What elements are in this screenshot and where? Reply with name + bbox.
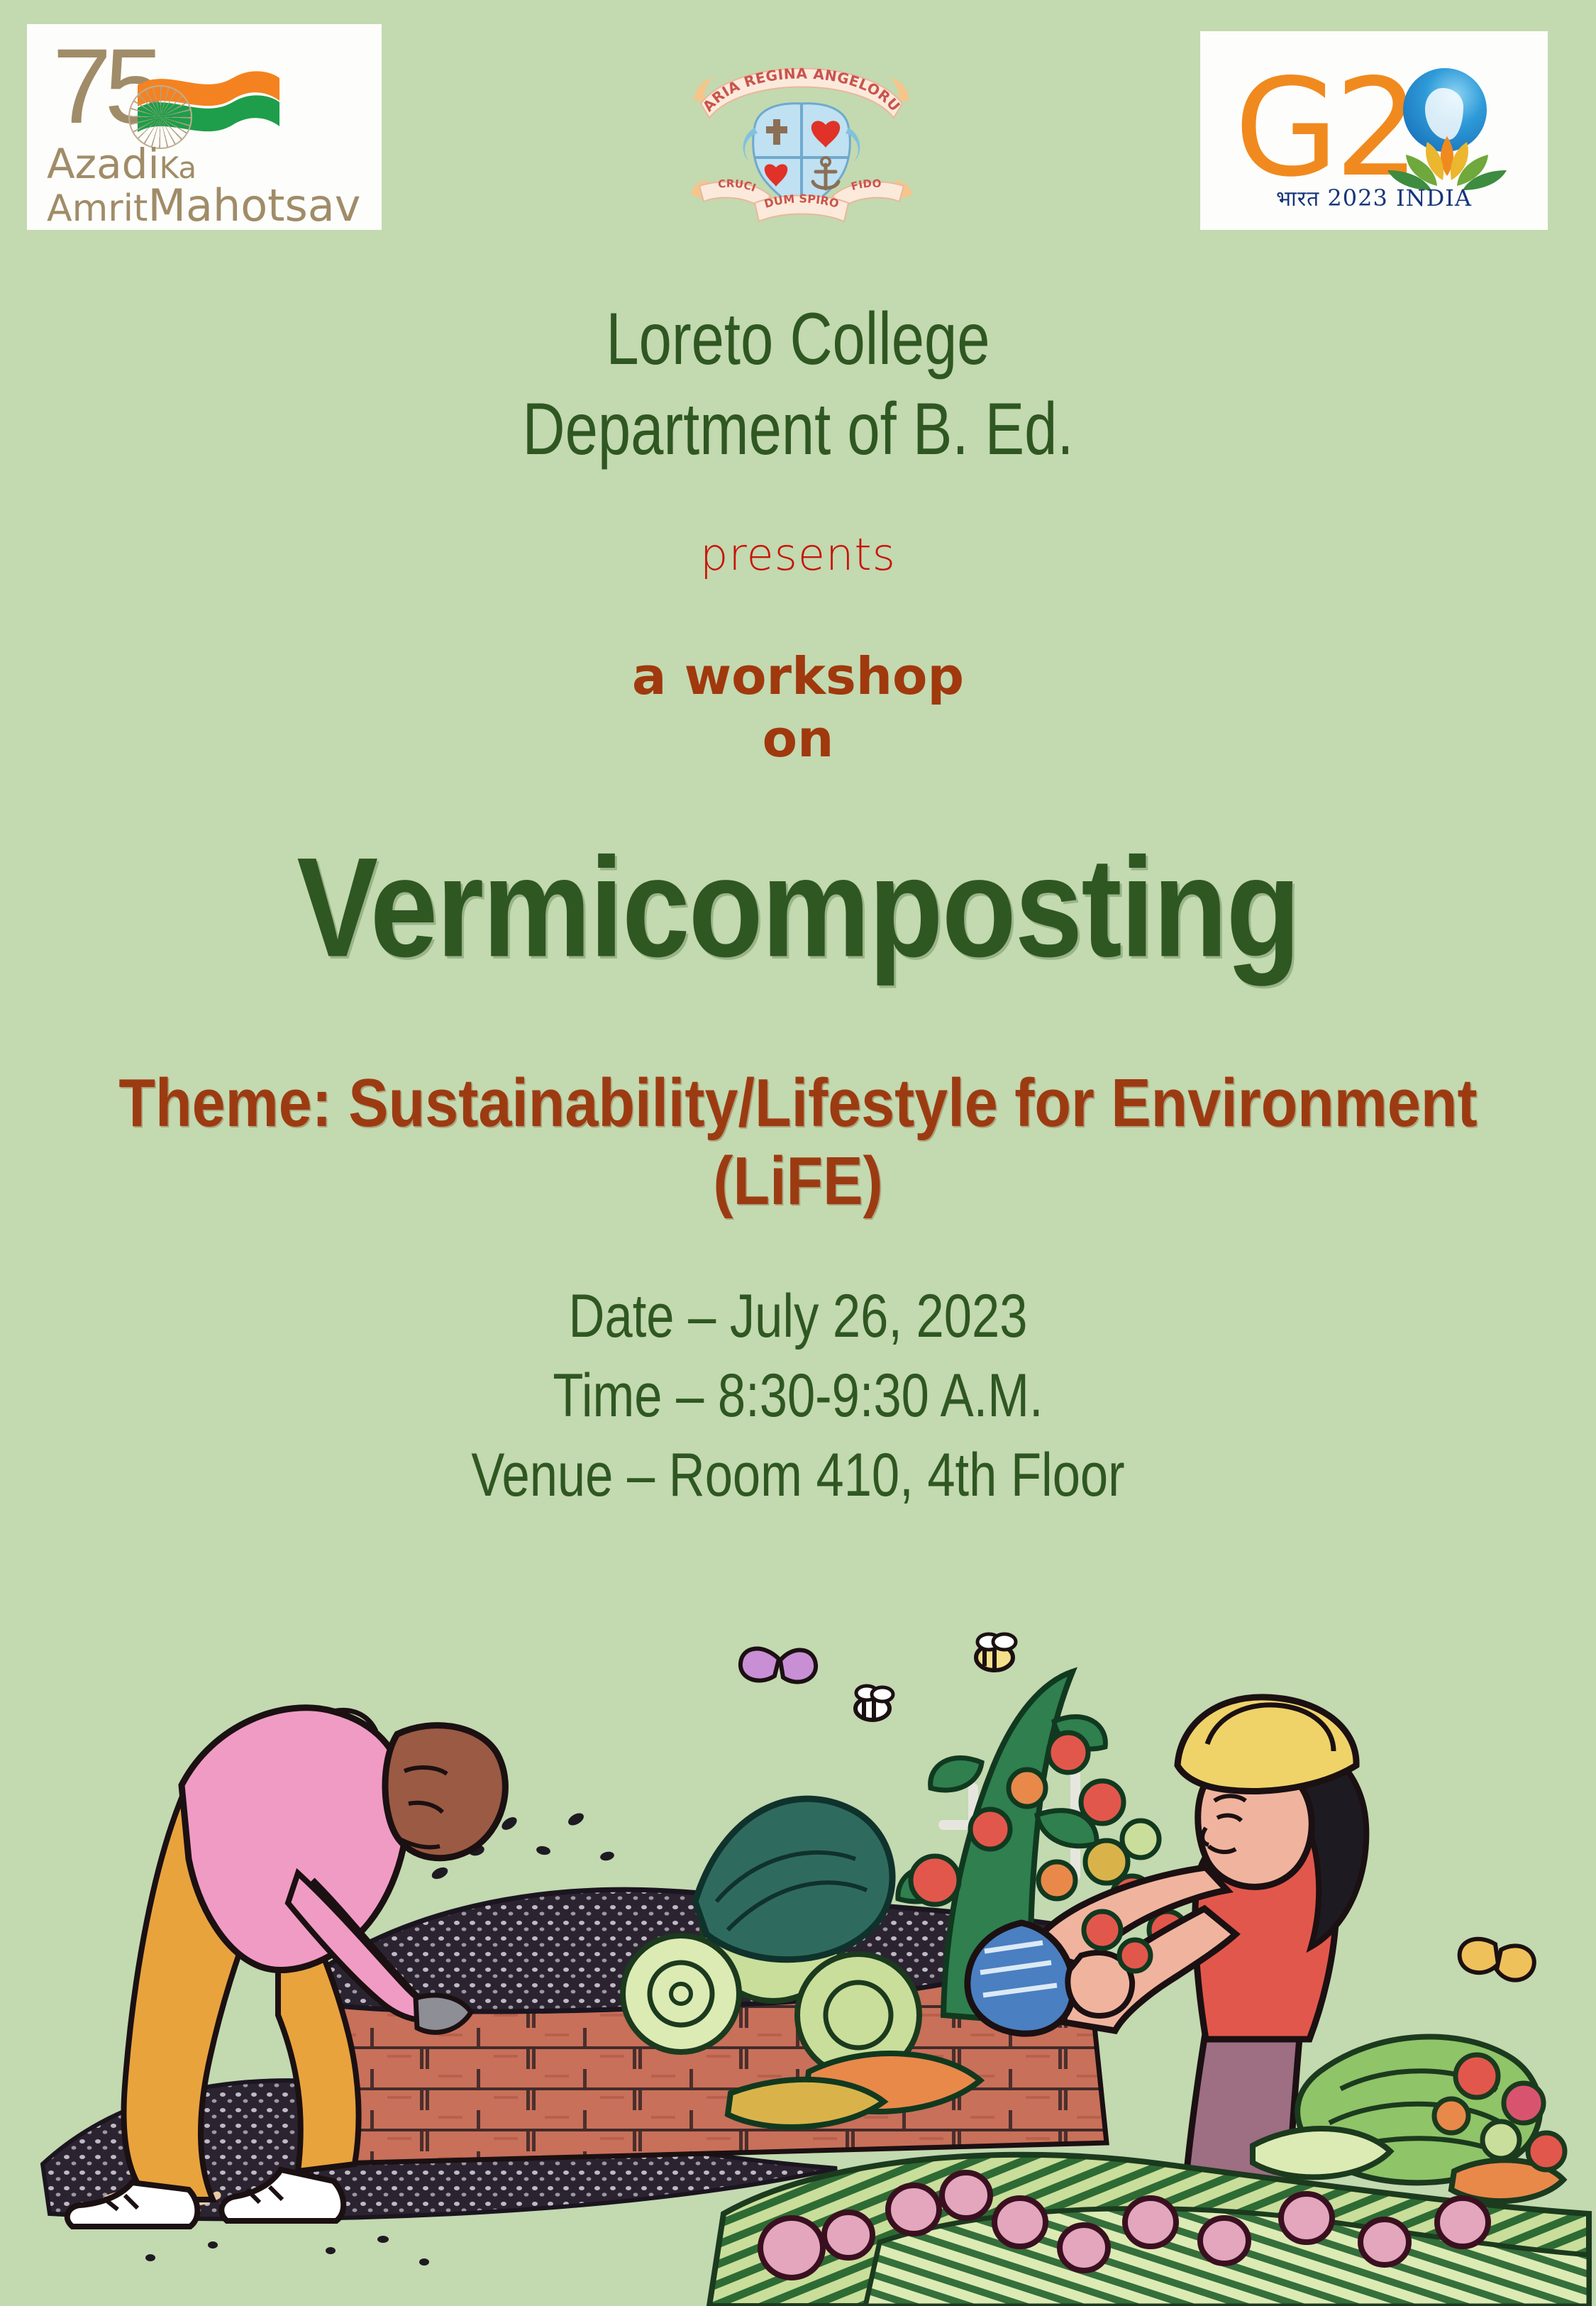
event-time: Time – 8:30-9:30 A.M.	[144, 1357, 1453, 1436]
department-name-line2: Department of B. Ed.	[160, 385, 1436, 475]
butterfly-icon-1	[741, 1649, 816, 1682]
left-figure-shirt	[182, 1708, 407, 1970]
picked-fruit-2	[1119, 1940, 1151, 1971]
azadi-word-mahotsav: Mahotsav	[148, 180, 360, 230]
g20-caption: भारत 2023 INDIA	[1200, 183, 1548, 212]
event-title: Vermicomposting	[0, 826, 1596, 989]
bee-icon-2	[855, 1686, 893, 1720]
g20-india-2023-logo: G2 भारत 2023 INDIA	[1200, 31, 1548, 230]
azadi-ka-amrit-mahotsav-logo: 75 AzadiKa AmritMahotsav	[27, 24, 382, 230]
straw-hat	[1177, 1697, 1356, 1791]
presents-label: presents	[0, 529, 1596, 580]
workshop-line1: a workshop	[0, 646, 1596, 708]
g20-year: 2023	[1327, 184, 1387, 211]
g20-country: INDIA	[1396, 184, 1472, 211]
event-venue: Venue – Room 410, 4th Floor	[144, 1436, 1453, 1516]
workshop-line2: on	[0, 708, 1596, 771]
leafy-green-kale	[695, 1799, 892, 1960]
butterfly-icon-2	[1460, 1939, 1534, 1980]
azadi-wordmark: AzadiKa AmritMahotsav	[47, 145, 359, 227]
cabbage-2	[623, 1936, 739, 2052]
event-details: Date – July 26, 2023 Time – 8:30-9:30 A.…	[144, 1277, 1453, 1515]
bee-icon-1	[976, 1634, 1016, 1670]
theme-line: Theme: Sustainability/Lifestyle for Envi…	[96, 1064, 1500, 1220]
azadi-word-amrit: Amrit	[47, 187, 148, 230]
vermicomposting-garden-illustration	[0, 1575, 1596, 2306]
left-figure-head	[385, 1726, 505, 1858]
loreto-college-crest: MARIA REGINA ANGELORUM	[681, 35, 922, 227]
logo-bar: 75 AzadiKa AmritMahotsav	[0, 0, 1596, 234]
azadi-word-azadi: Azadi	[47, 140, 160, 188]
poster-root: 75 AzadiKa AmritMahotsav	[0, 0, 1596, 2306]
crest-artwork: MARIA REGINA ANGELORUM	[681, 35, 922, 227]
event-date: Date – July 26, 2023	[144, 1277, 1453, 1357]
g20-devanagari-bharat: भारत	[1276, 187, 1319, 211]
page-title: Loreto College Department of B. Ed.	[160, 294, 1436, 475]
picked-fruit-1	[1084, 1911, 1121, 1948]
workshop-subtitle: a workshop on	[0, 646, 1596, 771]
college-name-line1: Loreto College	[160, 294, 1436, 385]
